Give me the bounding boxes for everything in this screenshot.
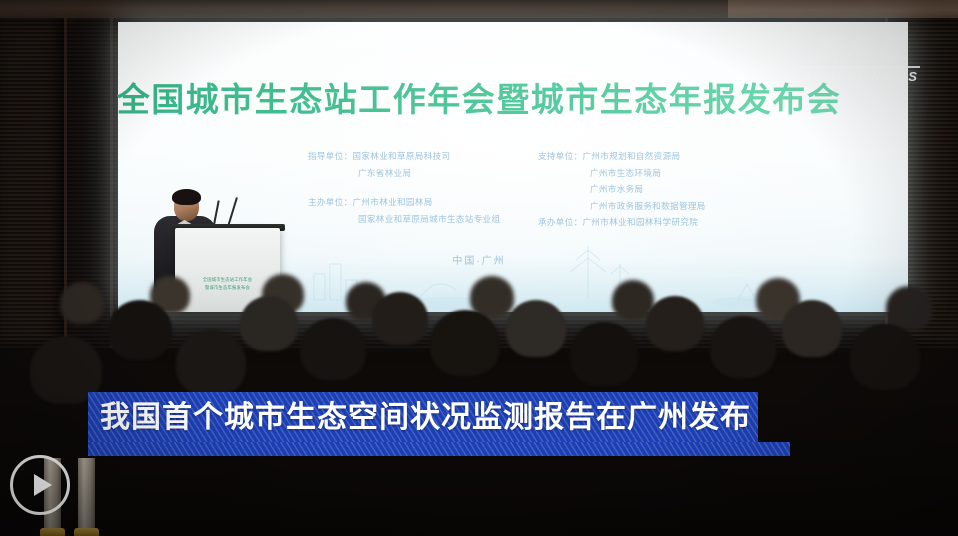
xinhua-logo: 新华社 XINHUA NEWS — [802, 36, 920, 83]
audience-head — [782, 300, 842, 357]
caption-bar: 我国首个城市生态空间状况监测报告在广州发布 — [88, 392, 790, 456]
column-gold-cap — [74, 528, 99, 536]
audience-head — [176, 330, 246, 396]
audience-head — [886, 286, 932, 330]
column-shaft — [78, 458, 95, 536]
speaker-hair — [172, 189, 201, 205]
caption-stripe-texture — [88, 442, 790, 456]
slide-place: 中国·广州 — [0, 252, 958, 267]
slide-credits-right: 支持单位：广州市规划和自然资源局 广州市生态环境局 广州市水务局 广州市政务服务… — [538, 148, 706, 231]
audience-head — [570, 322, 638, 386]
slide-credits-left: 指导单位：国家林业和草原局科技司 广东省林业局 主办单位：广州市林业和园林局 国… — [308, 148, 500, 227]
credit-line: 承办单位：广州市林业和园林科学研究院 — [538, 214, 706, 231]
audience-head — [710, 316, 776, 378]
audience-head — [300, 318, 366, 380]
xinhua-logo-en: XINHUA NEWS — [802, 70, 920, 83]
credit-line: 主办单位：广州市林业和园林局 — [308, 194, 500, 211]
caption-bar-upper: 我国首个城市生态空间状况监测报告在广州发布 — [88, 392, 758, 442]
credit-line: 国家林业和草原局城市生态站专业组 — [308, 211, 500, 228]
caption-bar-lower — [88, 442, 790, 456]
column-gold-cap — [40, 528, 65, 536]
credit-line: 广东省林业局 — [308, 165, 500, 182]
wall-seam — [110, 18, 113, 348]
audience-head — [430, 310, 500, 376]
credit-line: 指导单位：国家林业和草原局科技司 — [308, 148, 500, 165]
slide-title: 全国城市生态站工作年会暨城市生态年报发布会 — [0, 80, 958, 120]
credit-gap — [308, 181, 500, 194]
audience-head — [506, 300, 566, 357]
credit-line: 支持单位：广州市规划和自然资源局 — [538, 148, 706, 165]
credit-line: 广州市生态环境局 — [538, 165, 706, 182]
play-button[interactable] — [10, 455, 76, 521]
xinhua-logo-cn: 新华社 — [802, 36, 920, 63]
audience-head — [60, 282, 104, 324]
credit-line: 广州市政务服务和数据管理局 — [538, 198, 706, 215]
xinhua-logo-rule — [802, 66, 920, 68]
play-icon — [34, 474, 52, 496]
audience-head — [372, 292, 428, 345]
caption-headline: 我国首个城市生态空间状况监测报告在广州发布 — [100, 393, 751, 442]
audience-head — [108, 300, 172, 360]
wall-panel-left — [0, 18, 64, 348]
audience-head — [850, 324, 920, 390]
audience-head — [240, 296, 298, 351]
video-still-frame: 全国城市生态站工作年会暨城市生态年报发布会 指导单位：国家林业和草原局科技司 广… — [0, 0, 958, 536]
audience-head — [646, 296, 704, 351]
credit-line: 广州市水务局 — [538, 181, 706, 198]
